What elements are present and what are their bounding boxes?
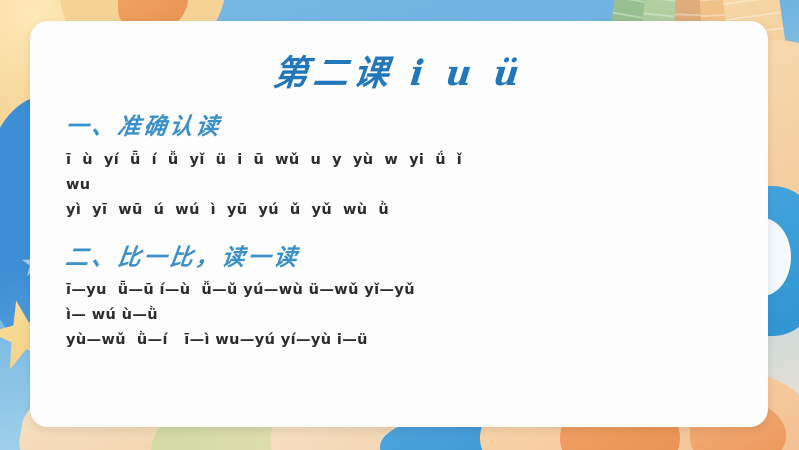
pinyin-line: yì yī wū ú wú ì yū yú ǔ yǔ wù ǜ [66,198,744,223]
pinyin-line: ì— wú ù—ǜ [66,303,744,328]
section-heading-two: 二、比一比，读一读 [64,238,302,272]
lesson-title: 第二课 i u ü [27,45,770,96]
section-two-pinyin-block: ī—yu ǖ—ū í—ù ǚ—ǔ yú—wù ü—wǔ yǐ—yǔ ì— wú … [66,278,744,353]
pinyin-line: wu [66,173,744,198]
slide-canvas: 第二课 i u ü 一、准确认读 ī ù yí ǖ í ǚ yǐ ü i ū w… [0,0,799,450]
content-card: 第二课 i u ü 一、准确认读 ī ù yí ǖ í ǚ yǐ ü i ū w… [30,21,768,427]
section-heading-one: 一、准确认读 [64,107,224,141]
section-one-pinyin-block: ī ù yí ǖ í ǚ yǐ ü i ū wǔ u y yù w yi ǘ ǐ… [66,148,744,223]
pinyin-line: ī ù yí ǖ í ǚ yǐ ü i ū wǔ u y yù w yi ǘ ǐ [66,148,744,173]
pinyin-line: ī—yu ǖ—ū í—ù ǚ—ǔ yú—wù ü—wǔ yǐ—yǔ [66,278,744,303]
pinyin-line: yù—wǔ ǜ—í ī—ì wu—yú yí—yù i—ü [66,328,744,353]
